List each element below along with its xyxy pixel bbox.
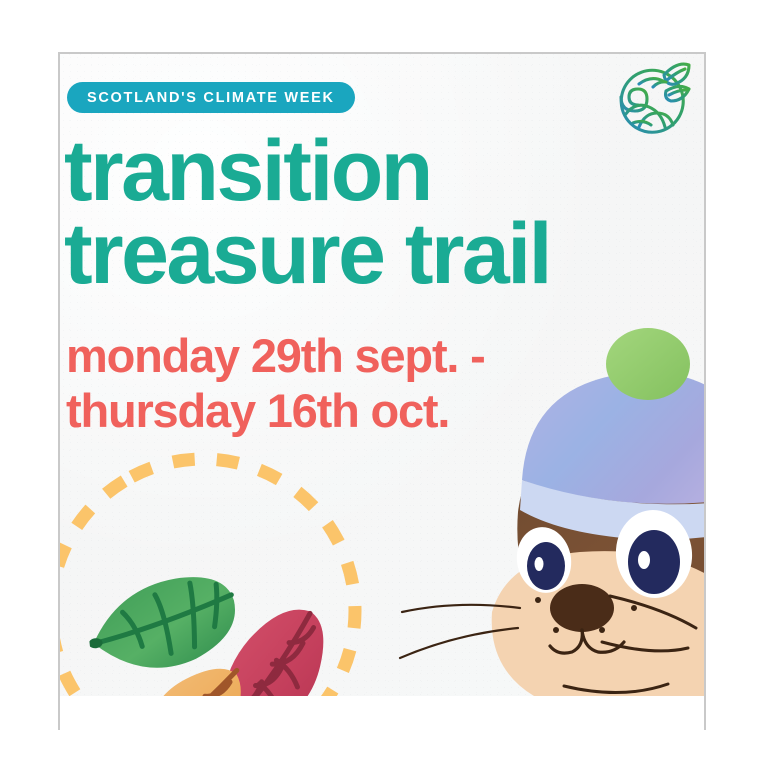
poster-screenshot: SCOTLAND'S CLIMATE WEEK transition treas… [0,0,768,768]
poster-headline: transition treasure trail [64,130,704,295]
poster-dates: monday 29th sept. - thursday 16th oct. [66,328,586,439]
headline-line-2: treasure trail [64,213,704,296]
hat-pompom [606,328,690,400]
date-line-2: thursday 16th oct. [66,383,586,438]
poster-canvas: SCOTLAND'S CLIMATE WEEK transition treas… [60,54,704,700]
badge-label: SCOTLAND'S CLIMATE WEEK [87,90,335,106]
date-line-1: monday 29th sept. - [66,329,485,382]
headline-line-1: transition [64,123,431,219]
card-bottom-edge [60,696,704,700]
orange-leaf-icon [144,650,258,700]
circular-leaf-and-wave-logo-icon [609,57,693,141]
scotlands-climate-week-badge: SCOTLAND'S CLIMATE WEEK [67,82,355,113]
